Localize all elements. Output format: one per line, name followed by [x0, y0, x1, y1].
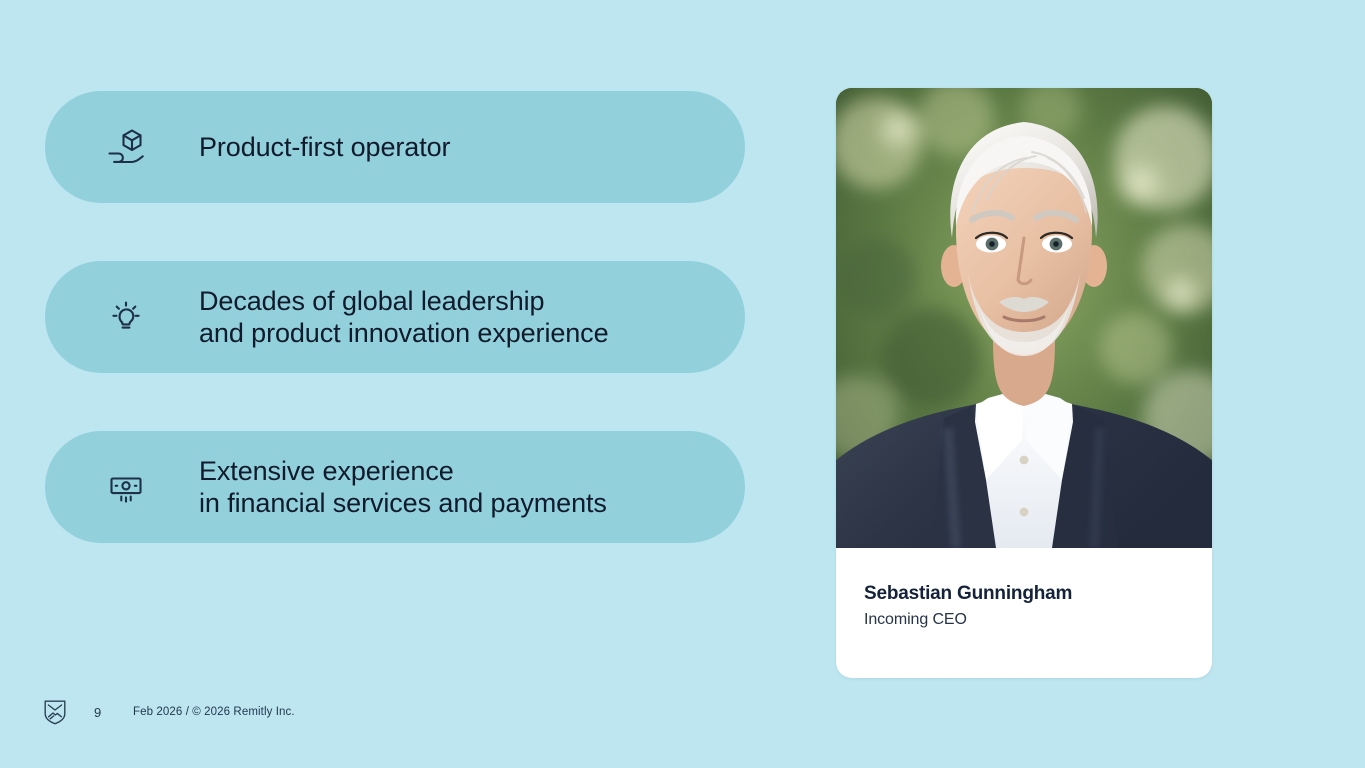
- banknote-icon: [103, 464, 149, 510]
- highlight-pill-product-first[interactable]: Product-first operator: [45, 91, 745, 203]
- footer-legal-text: Feb 2026 / © 2026 Remitly Inc.: [133, 706, 295, 718]
- highlight-pill-label: Decades of global leadership and product…: [199, 285, 609, 350]
- profile-meta: Sebastian Gunningham Incoming CEO: [836, 548, 1212, 631]
- hand-holding-box-icon: [103, 124, 149, 170]
- remitly-shield-handshake-logo: [44, 698, 70, 726]
- profile-name: Sebastian Gunningham: [864, 582, 1184, 606]
- profile-role: Incoming CEO: [864, 609, 1184, 631]
- highlight-pill-label: Product-first operator: [199, 131, 450, 164]
- highlight-pill-label: Extensive experience in financial servic…: [199, 455, 607, 520]
- profile-card: Sebastian Gunningham Incoming CEO: [836, 88, 1212, 678]
- highlights-list: Product-first operator Decades of global…: [45, 91, 745, 543]
- page-number: 9: [94, 705, 108, 720]
- highlight-pill-financial[interactable]: Extensive experience in financial servic…: [45, 431, 745, 543]
- portrait-photo: [836, 88, 1212, 548]
- portrait-illustration: [836, 88, 1212, 548]
- slide-footer: 9 Feb 2026 / © 2026 Remitly Inc.: [44, 698, 295, 726]
- lightbulb-icon: [103, 294, 149, 340]
- highlight-pill-leadership[interactable]: Decades of global leadership and product…: [45, 261, 745, 373]
- slide-canvas: Product-first operator Decades of global…: [0, 0, 1365, 768]
